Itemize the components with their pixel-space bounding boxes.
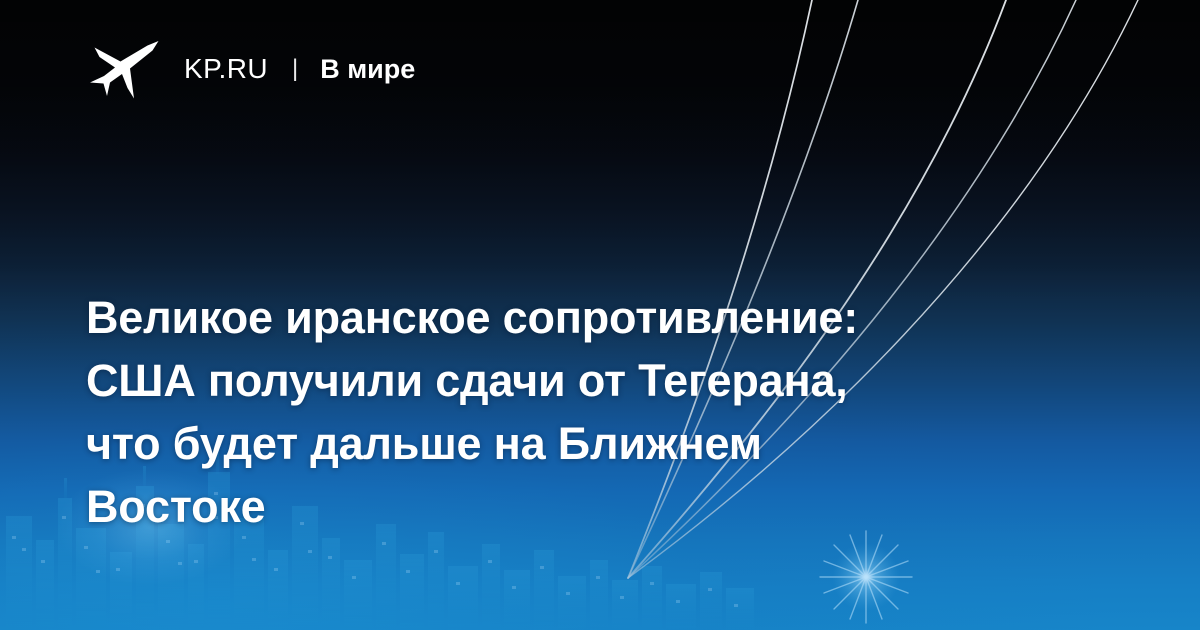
headline-line-1: Великое иранское сопротивление: — [86, 286, 1126, 349]
rubric-label[interactable]: В мире — [320, 56, 415, 83]
headline-line-3: что будет дальше на Ближнем — [86, 412, 1126, 475]
headline: Великое иранское сопротивление: США полу… — [86, 286, 1126, 538]
headline-line-4: Востоке — [86, 475, 1126, 538]
brand-header: KP.RU | В мире — [86, 38, 415, 100]
brand-name[interactable]: KP.RU — [184, 55, 268, 83]
headline-line-2: США получили сдачи от Тегерана, — [86, 349, 1126, 412]
swallow-bird-logo-icon[interactable] — [86, 38, 162, 100]
header-separator: | — [292, 57, 298, 81]
share-card: KP.RU | В мире Великое иранское сопротив… — [0, 0, 1200, 630]
